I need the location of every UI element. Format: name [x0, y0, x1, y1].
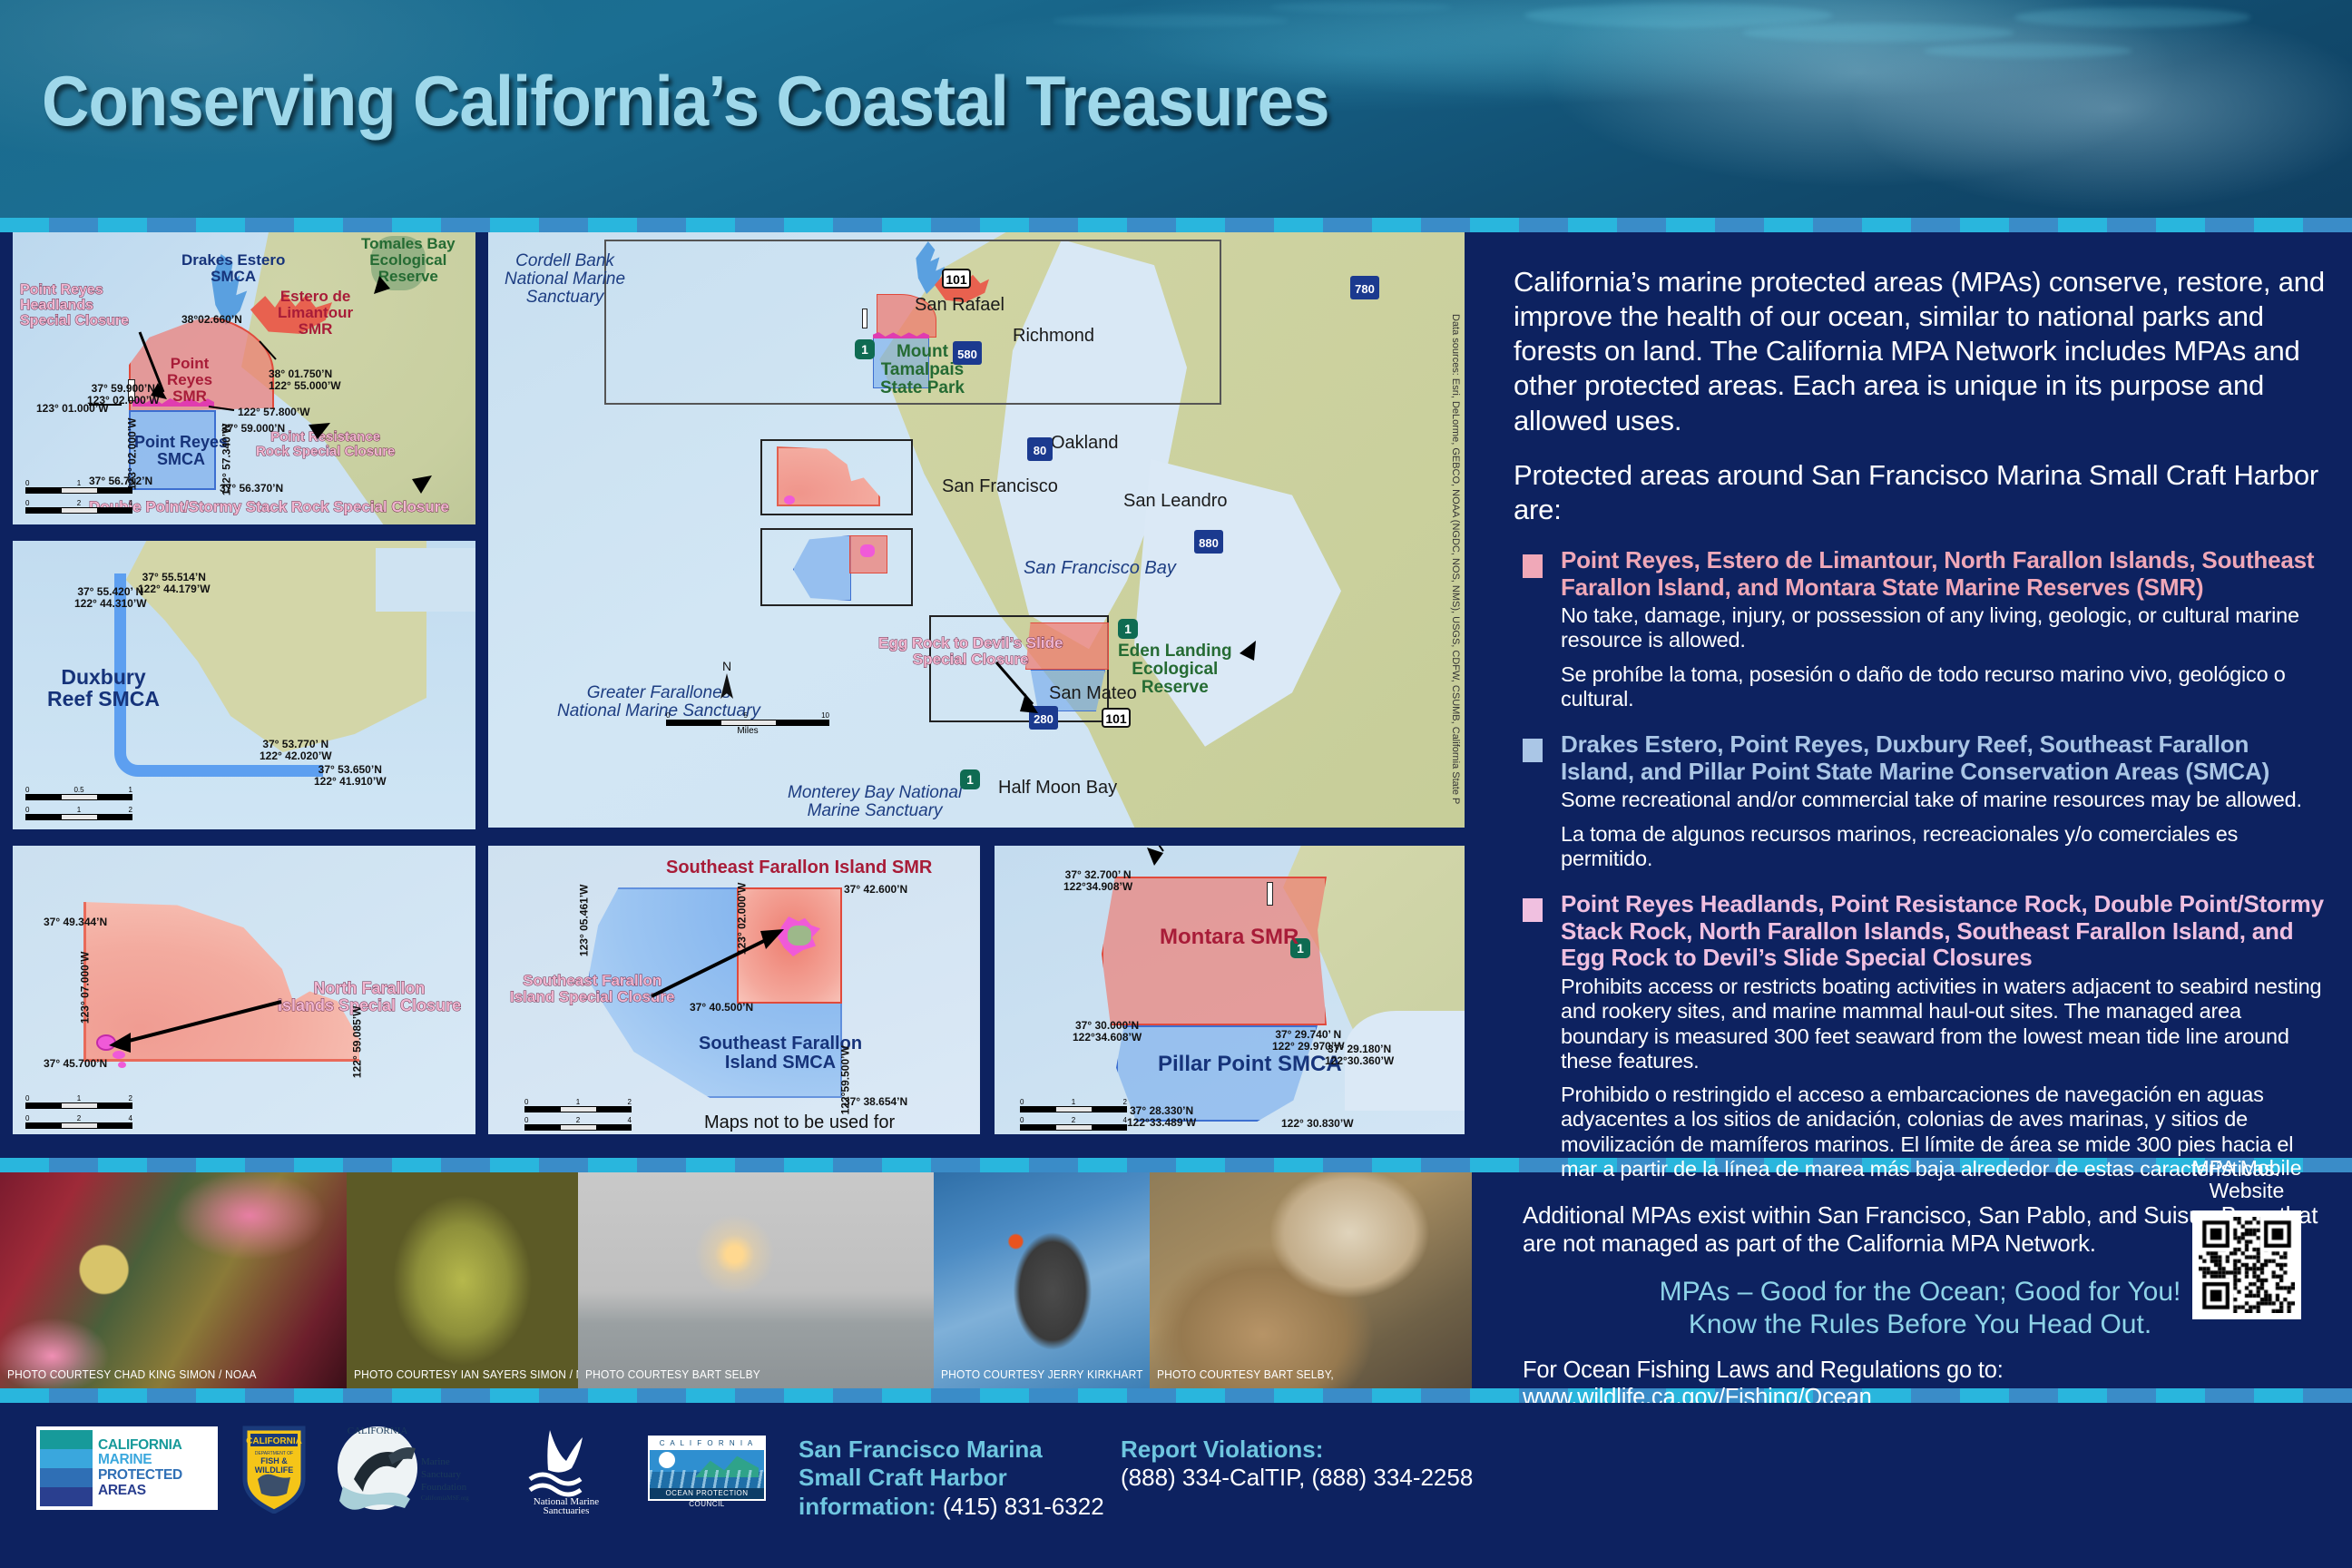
map-label: Pillar Point SMCA [1158, 1053, 1342, 1075]
scale-bar: 012 024 [1020, 1098, 1127, 1131]
north-farallon-map[interactable]: North FarallonIslands Special Closure 37… [13, 846, 475, 1134]
highway-shield: 280 [1029, 706, 1058, 730]
point-reyes-map[interactable]: Drakes EsteroSMCA Tomales BayEcologicalR… [13, 232, 475, 524]
map-coordinate: 123° 07.000’W [80, 951, 92, 1024]
highway-shield: 1 [960, 769, 980, 789]
map-label: Cordell BankNational MarineSanctuary [505, 252, 625, 307]
bullet-text-es: La toma de algunos recursos marinos, rec… [1561, 822, 2327, 872]
svg-text:CaliforniaMSF.org: CaliforniaMSF.org [421, 1494, 469, 1502]
photo-abalone: Photo courtesy Ian Sayers Simon / NOAA [347, 1172, 578, 1388]
map-grid: Drakes EsteroSMCA Tomales BayEcologicalR… [0, 232, 1472, 1158]
map-label: Eden LandingEcologicalReserve [1118, 642, 1232, 697]
harbor-name-line2: Small Craft Harbor [799, 1464, 1104, 1492]
photo-rockfish: Photo courtesy Chad King Simon / NOAA [0, 1172, 347, 1388]
harbor-info-label: information: [799, 1493, 936, 1520]
ocean-protection-council-logo: C A L I F O R N I A OCEAN PROTECTION COU… [648, 1436, 766, 1501]
bullet-special-closure: Point Reyes Headlands, Point Resistance … [1514, 891, 2327, 1181]
map-coordinate: 122° 57.800’W [238, 407, 310, 418]
qr-block: MPA MobileWebsite [2174, 1157, 2319, 1320]
bullet-text-en: Some recreational and/or commercial take… [1561, 788, 2327, 812]
cdfw-shield-logo: CALIFORNIA DEPARTMENT OF FISH & WILDLIFE [241, 1423, 307, 1514]
map-coordinate: 38° 01.750’N122° 55.000’W [269, 368, 341, 391]
map-coordinate: 38°02.660’N [181, 314, 242, 326]
page-title: Conserving California’s Coastal Treasure… [42, 60, 1329, 142]
harbor-phone: (415) 831-6322 [943, 1493, 1104, 1520]
bullet-title: Point Reyes, Estero de Limantour, North … [1561, 547, 2327, 601]
highway-shield: 1 [855, 339, 875, 359]
map-coordinate: 123° 01.000’W [36, 403, 109, 415]
report-title: Report Violations: [1121, 1436, 1473, 1464]
svg-text:FISH &: FISH & [260, 1456, 288, 1465]
photo-oystercatcher: Photo courtesy Jerry Kirkhart [934, 1172, 1150, 1388]
map-coordinate: 122° 59.085’W [352, 1005, 364, 1078]
highway-shield: 80 [1027, 437, 1053, 461]
qr-code-icon[interactable] [2192, 1210, 2301, 1319]
map-label: Tomales BayEcologicalReserve [361, 236, 456, 285]
map-coordinate: 37° 45.700’N [44, 1058, 107, 1070]
svg-text:WILDLIFE: WILDLIFE [255, 1465, 294, 1475]
checker-rule-top [0, 218, 2352, 232]
map-label: San Rafael [915, 296, 1004, 315]
photo-credit: Photo courtesy Jerry Kirkhart [941, 1367, 1143, 1381]
map-coordinate: 37° 38.654’N [844, 1096, 907, 1108]
map-coordinate: 123° 05.461’W [579, 884, 591, 956]
report-violations: Report Violations: (888) 334-CalTIP, (88… [1121, 1436, 1473, 1492]
map-coordinate: 37° 53.650’N122° 41.910’W [314, 764, 387, 787]
bullet-text-es: Se prohíbe la toma, posesión o daño de t… [1561, 662, 2327, 712]
photo-credit: Photo courtesy Bart Selby, [1157, 1367, 1334, 1381]
map-coordinate: 37° 55.514’N122° 44.179’W [138, 572, 211, 594]
map-label: Southeast FarallonIsland SMCA [699, 1034, 862, 1073]
highway-shield: 580 [953, 341, 982, 365]
logo-line: AREAS [98, 1484, 214, 1499]
map-label: Estero deLimantourSMR [278, 289, 353, 338]
highway-shield: 101 [942, 269, 971, 289]
bullet-smca: Drakes Estero, Point Reyes, Duxbury Reef… [1514, 731, 2327, 871]
bullet-title: Point Reyes Headlands, Point Resistance … [1561, 891, 2327, 972]
north-arrow-icon: N [719, 659, 735, 705]
map-label: Point ReyesHeadlandsSpecial Closure [20, 283, 129, 328]
map-label: MountTamalpaisState Park [880, 343, 965, 397]
map-coordinate: 37° 49.344’N [44, 916, 107, 928]
map-label: Egg Rock to Devil’s SlideSpecial Closure [878, 635, 1063, 668]
bullet-square-closure [1523, 898, 1543, 922]
photo-fishing-boat: Photo courtesy Bart Selby [578, 1172, 934, 1388]
map-coordinate: 37° 30.000’N122°34.608’W [1073, 1020, 1142, 1043]
svg-text:Sanctuary: Sanctuary [421, 1469, 461, 1480]
map-label: Point ReyesSMCA [134, 434, 228, 468]
scale-bar: 0510 Miles [666, 711, 829, 736]
map-label: Montara SMR [1160, 926, 1298, 948]
lead-paragraph: Protected areas around San Francisco Mar… [1514, 458, 2327, 527]
map-coordinate: 37° 42.600’N [844, 884, 907, 896]
map-label: Southeast FarallonIsland Special Closure [510, 973, 674, 1005]
map-label: Half Moon Bay [998, 779, 1117, 798]
national-marine-sanctuaries-logo: National Marine Sanctuaries [508, 1423, 624, 1514]
svg-text:Sanctuaries: Sanctuaries [544, 1505, 590, 1514]
bullet-square-smr [1523, 554, 1543, 578]
photo-credit: Photo courtesy Bart Selby [585, 1367, 760, 1381]
highway-shield: 101 [1102, 708, 1131, 728]
bullet-title: Drakes Estero, Point Reyes, Duxbury Reef… [1561, 731, 2327, 785]
highway-shield: 880 [1194, 530, 1223, 554]
map-label: Oakland [1051, 434, 1119, 453]
map-coordinate: 37° 56.370’N [220, 483, 283, 495]
report-numbers: (888) 334-CalTIP, (888) 334-2258 [1121, 1464, 1473, 1492]
bullet-text-en: No take, damage, injury, or possession o… [1561, 603, 2327, 653]
california-marine-protected-areas-logo: CALIFORNIA MARINE PROTECTED AREAS [36, 1426, 218, 1510]
map-label: Southeast Farallon Island SMR [666, 858, 932, 877]
map-coordinate: 37° 55.420’ N122° 44.310’W [74, 586, 147, 609]
poster-footer: CALIFORNIA MARINE PROTECTED AREAS CALIFO… [0, 1403, 2352, 1568]
map-label: Double Point/Stormy Stack Rock Special C… [89, 499, 449, 515]
partner-logos: CALIFORNIA MARINE PROTECTED AREAS CALIFO… [36, 1423, 766, 1514]
photo-credit: Photo courtesy Ian Sayers Simon / NOAA [354, 1367, 578, 1381]
map-label: PointReyesSMR [167, 356, 212, 405]
harbor-info: San Francisco Marina Small Craft Harbor … [799, 1436, 1104, 1522]
scale-bar: 012 024 [25, 1094, 132, 1129]
highway-shield: 1 [1118, 619, 1138, 639]
qr-label: MPA MobileWebsite [2174, 1157, 2319, 1204]
poster-header: Conserving California’s Coastal Treasure… [0, 0, 2352, 218]
poster-root: Conserving California’s Coastal Treasure… [0, 0, 2352, 1568]
photo-strip: Photo courtesy Chad King Simon / NOAA Ph… [0, 1172, 1472, 1388]
scale-bar: 012 024 [25, 479, 132, 514]
scale-bar: 00.51 012 [25, 786, 132, 820]
highway-shield: 780 [1350, 276, 1379, 299]
logo-line: C A L I F O R N I A [650, 1437, 764, 1450]
map-label: North FarallonIslands Special Closure [278, 980, 461, 1014]
map-label: San Francisco [942, 477, 1058, 496]
intro-paragraph: California’s marine protected areas (MPA… [1514, 265, 2327, 438]
map-label: DuxburyReef SMCA [47, 666, 160, 710]
map-coordinate: 37° 28.330’N122°33.489’W [1127, 1105, 1196, 1128]
photo-sea-lion: Photo courtesy Bart Selby, [1150, 1172, 1472, 1388]
map-coordinate: 123° 02.000’W [737, 882, 749, 955]
southeast-farallon-map[interactable]: Southeast Farallon Island SMR Southeast … [488, 846, 980, 1134]
bullet-smr: Point Reyes, Estero de Limantour, North … [1514, 547, 2327, 711]
photo-credit: Photo courtesy Chad King Simon / NOAA [7, 1367, 257, 1381]
montara-pillar-point-map[interactable]: 1 Montara SMR Pillar Point SMCA 37° 32.7… [995, 846, 1465, 1134]
logo-line: PROTECTED [98, 1468, 214, 1484]
map-coordinate: 37° 40.500’N [690, 1002, 753, 1014]
logo-line: CALIFORNIA [98, 1438, 214, 1454]
map-coordinate: 37° 29.180’N122°30.360’W [1325, 1044, 1394, 1066]
map-coordinate: 37° 53.770’ N122° 42.020’W [260, 739, 332, 761]
bullet-square-smca [1523, 739, 1543, 762]
map-data-source: Data sources: Esri, DeLorme, GEBCO, NOAA… [1450, 314, 1461, 804]
svg-text:Foundation: Foundation [421, 1482, 467, 1493]
bullet-text-en: Prohibits access or restricts boating ac… [1561, 975, 2327, 1073]
duxbury-reef-map[interactable]: DuxburyReef SMCA 37° 55.514’N122° 44.179… [13, 541, 475, 829]
logo-line: MARINE [98, 1453, 214, 1468]
regional-overview-map[interactable]: Cordell BankNational MarineSanctuary Gre… [488, 232, 1465, 828]
scale-bar: 012 024 [524, 1098, 632, 1131]
svg-text:CALIFORNIA: CALIFORNIA [246, 1436, 302, 1446]
map-label: San Leandro [1123, 492, 1228, 511]
map-label: Monterey Bay NationalMarine Sanctuary [788, 784, 962, 820]
logo-line: OCEAN PROTECTION COUNCIL [650, 1488, 764, 1499]
map-disclaimer: Maps not to be used for navigation. [704, 1112, 980, 1134]
marine-sanctuary-foundation-logo: CALIFORNIA Marine Sanctuary Foundation C… [330, 1423, 485, 1514]
info-panel: California’s marine protected areas (MPA… [1488, 232, 2352, 1403]
map-coordinate: 122° 30.830’W [1281, 1118, 1354, 1130]
svg-text:CALIFORNIA: CALIFORNIA [348, 1426, 408, 1436]
map-label: Richmond [1013, 327, 1094, 346]
map-coordinate: 37° 32.700’ N122°34.908’W [1063, 869, 1132, 892]
map-label: Drakes EsteroSMCA [181, 252, 285, 285]
svg-text:Marine: Marine [421, 1456, 450, 1467]
map-label: San Francisco Bay [1024, 559, 1176, 578]
harbor-name-line1: San Francisco Marina [799, 1436, 1104, 1464]
